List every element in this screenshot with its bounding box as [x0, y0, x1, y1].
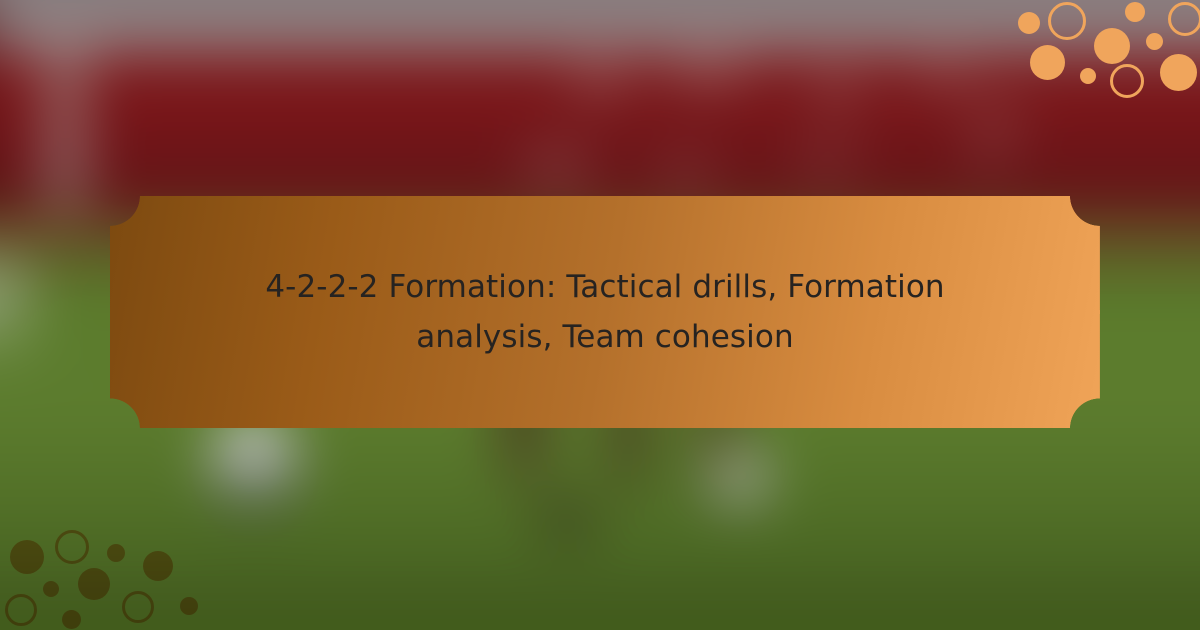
decorative-circle [122, 591, 154, 623]
decorative-circle [1125, 2, 1145, 22]
decorative-circle [1110, 64, 1144, 98]
decorative-circle [180, 597, 198, 615]
decorative-circle [143, 551, 173, 581]
decorative-circles-bottom-left [0, 514, 200, 630]
decorative-circles-top-right [1000, 0, 1200, 116]
decorative-circle [1048, 2, 1086, 40]
social-card-image: 4-2-2-2 Formation: Tactical drills, Form… [0, 0, 1200, 630]
decorative-circle [107, 544, 125, 562]
decorative-circle [43, 581, 59, 597]
title-card: 4-2-2-2 Formation: Tactical drills, Form… [110, 196, 1100, 428]
page-title: 4-2-2-2 Formation: Tactical drills, Form… [215, 262, 995, 362]
decorative-circle [1168, 2, 1200, 36]
decorative-circle [1018, 12, 1040, 34]
decorative-circle [1160, 54, 1197, 91]
decorative-circle [62, 610, 81, 629]
decorative-circle [10, 540, 44, 574]
decorative-circle [1094, 28, 1130, 64]
decorative-circle [55, 530, 89, 564]
decorative-circle [1030, 45, 1065, 80]
decorative-circle [78, 568, 110, 600]
decorative-circle [1080, 68, 1096, 84]
decorative-circle [5, 594, 37, 626]
decorative-circle [1146, 33, 1163, 50]
